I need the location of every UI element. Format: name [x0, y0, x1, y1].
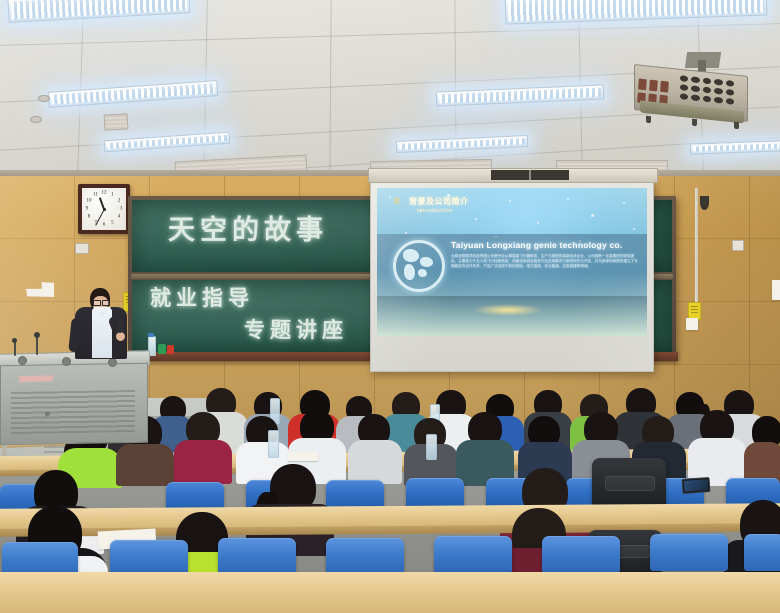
- marker-box-red: [167, 345, 174, 354]
- chair: [406, 478, 464, 509]
- cord-knob[interactable]: [700, 196, 709, 210]
- desk-microphone: [30, 332, 44, 354]
- marker-box-green: [158, 344, 166, 354]
- wall-outlet[interactable]: [732, 240, 744, 251]
- chair: [434, 536, 512, 573]
- wall-notice-paper: [772, 280, 780, 300]
- lecture-hall-photo: 12 1 2 3 4 5 6 7 8 9 10 11 天空的故事 就业指导: [0, 0, 780, 613]
- ceiling-light-panel: [505, 0, 768, 25]
- projector-vent-grille: [676, 71, 738, 110]
- lectern-body: [0, 363, 148, 446]
- ceiling-light-panel: [436, 84, 604, 106]
- screen-housing-bracket: [491, 170, 569, 180]
- company-logo-icon: ✕: [393, 196, 401, 207]
- ceiling-vent: [104, 113, 129, 130]
- water-bottle: [268, 430, 279, 458]
- ceiling-light-panel: [104, 132, 231, 153]
- smartphone: [682, 477, 711, 494]
- chalk-line-1: 天空的故事: [168, 208, 328, 247]
- lectern-label: [19, 375, 53, 382]
- wall-notice-paper: [686, 318, 698, 330]
- presenter-hand: [116, 332, 125, 341]
- chair: [542, 536, 620, 573]
- lectern-lock[interactable]: [45, 411, 50, 416]
- projector-icon: [634, 66, 746, 122]
- water-bottle: [426, 434, 437, 460]
- slide-company-title: Taiyuan Longxiang genie technology co.: [451, 240, 622, 250]
- presentation-slide: ✕ 背景及公司简介 Introduction Taiyuan Longxiang…: [377, 188, 647, 336]
- notebook: [288, 452, 318, 461]
- presenter-shirt: [92, 308, 112, 358]
- screen-roller-housing: [368, 168, 658, 183]
- chalk-line-2: 就业指导: [150, 282, 254, 312]
- ceiling-light-panel: [396, 135, 528, 153]
- glasses-icon: [93, 300, 108, 304]
- projection-screen: ✕ 背景及公司简介 Introduction Taiyuan Longxiang…: [370, 180, 654, 372]
- ceiling-light-panel: [7, 0, 190, 23]
- smoke-detector-icon: [38, 95, 50, 102]
- slide-header-chinese: 背景及公司简介: [409, 196, 469, 207]
- chair: [650, 534, 728, 571]
- screen-pull-cord[interactable]: [695, 188, 698, 318]
- chalk-line-3: 专题讲座: [244, 314, 348, 344]
- desk-row-front: [0, 572, 780, 613]
- slide-horizon-photo: [377, 296, 647, 336]
- backpack: [592, 458, 666, 510]
- wall-outlet[interactable]: [75, 243, 89, 254]
- ceiling-light-panel: [690, 140, 780, 154]
- chair: [218, 538, 296, 575]
- chair: [326, 538, 404, 575]
- wall-clock: 12 1 2 3 4 5 6 7 8 9 10 11: [78, 184, 130, 234]
- globe-icon: [393, 240, 445, 292]
- smoke-detector-icon: [30, 116, 42, 123]
- slide-header-english: Introduction: [417, 208, 453, 214]
- chair: [744, 534, 780, 571]
- desk-microphone: [8, 338, 22, 356]
- clock-face: 12 1 2 3 4 5 6 7 8 9 10 11: [82, 188, 126, 230]
- ceiling-light-panel: [48, 80, 219, 108]
- bottle-cap: [148, 333, 154, 337]
- slide-light-glow: [473, 304, 543, 316]
- slide-body-text: 太原龙翔精灵科技有限公司是专业从事智能飞行器研发、生产与销售的高新技术企业，公司…: [451, 254, 639, 269]
